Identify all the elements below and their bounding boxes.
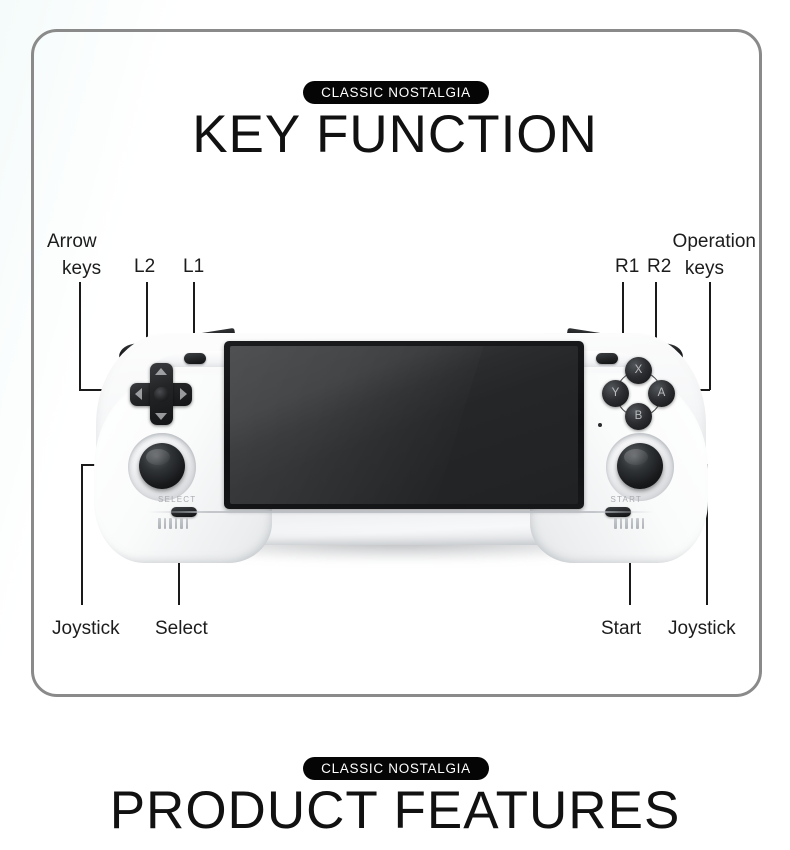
button-y[interactable]: Y bbox=[602, 380, 629, 407]
joystick-left[interactable] bbox=[128, 433, 196, 501]
page-title-product-features: PRODUCT FEATURES bbox=[0, 780, 790, 841]
label-arrow-keys: Arrow keys bbox=[47, 228, 101, 282]
joystick-right-cap[interactable] bbox=[617, 443, 663, 489]
button-b[interactable]: B bbox=[625, 403, 652, 430]
dpad-left-arrow-icon[interactable] bbox=[135, 388, 142, 400]
face-button-cluster: X Y A B bbox=[602, 357, 676, 431]
label-joystick-left: Joystick bbox=[52, 616, 120, 641]
device-screen[interactable] bbox=[230, 346, 578, 504]
infographic-page: CLASSIC NOSTALGIA KEY FUNCTION Arrow key… bbox=[0, 0, 790, 850]
status-led-icon bbox=[598, 423, 602, 427]
label-joystick-right: Joystick bbox=[668, 616, 736, 641]
start-button-imprint: START bbox=[611, 495, 642, 504]
dpad-down-arrow-icon[interactable] bbox=[155, 413, 167, 420]
speaker-grille-left bbox=[158, 518, 188, 529]
badge-classic-nostalgia-top: CLASSIC NOSTALGIA bbox=[303, 81, 489, 104]
label-start: Start bbox=[601, 616, 641, 641]
page-title-key-function: KEY FUNCTION bbox=[0, 104, 790, 165]
device-screen-bezel bbox=[224, 341, 584, 509]
joystick-right[interactable] bbox=[606, 433, 674, 501]
handheld-console-image: X Y A B SELECT START bbox=[96, 315, 706, 570]
badge-classic-nostalgia-bottom: CLASSIC NOSTALGIA bbox=[303, 757, 489, 780]
label-operation-keys-line1: Operation bbox=[608, 228, 756, 255]
speaker-grille-right bbox=[614, 518, 644, 529]
button-x[interactable]: X bbox=[625, 357, 652, 384]
dpad-right-arrow-icon[interactable] bbox=[180, 388, 187, 400]
label-select: Select bbox=[155, 616, 208, 641]
device-bottom-seam bbox=[148, 511, 654, 513]
select-button-imprint: SELECT bbox=[158, 495, 196, 504]
label-arrow-keys-line2: keys bbox=[47, 255, 101, 282]
label-l1: L1 bbox=[183, 254, 204, 279]
dpad[interactable] bbox=[130, 363, 192, 425]
label-arrow-keys-line1: Arrow bbox=[47, 228, 101, 255]
screen-glare bbox=[230, 346, 492, 504]
dpad-up-arrow-icon[interactable] bbox=[155, 368, 167, 375]
label-operation-keys: Operation keys bbox=[608, 228, 756, 282]
dpad-center-pivot bbox=[154, 387, 169, 402]
label-l2: L2 bbox=[134, 254, 155, 279]
leader-line-arrow-keys-vertical bbox=[79, 282, 81, 390]
button-a[interactable]: A bbox=[648, 380, 675, 407]
label-operation-keys-line2: keys bbox=[608, 255, 756, 282]
joystick-left-cap[interactable] bbox=[139, 443, 185, 489]
leader-line-operation-keys-vertical bbox=[709, 282, 711, 390]
leader-line-joystick-left-vertical bbox=[81, 464, 83, 605]
